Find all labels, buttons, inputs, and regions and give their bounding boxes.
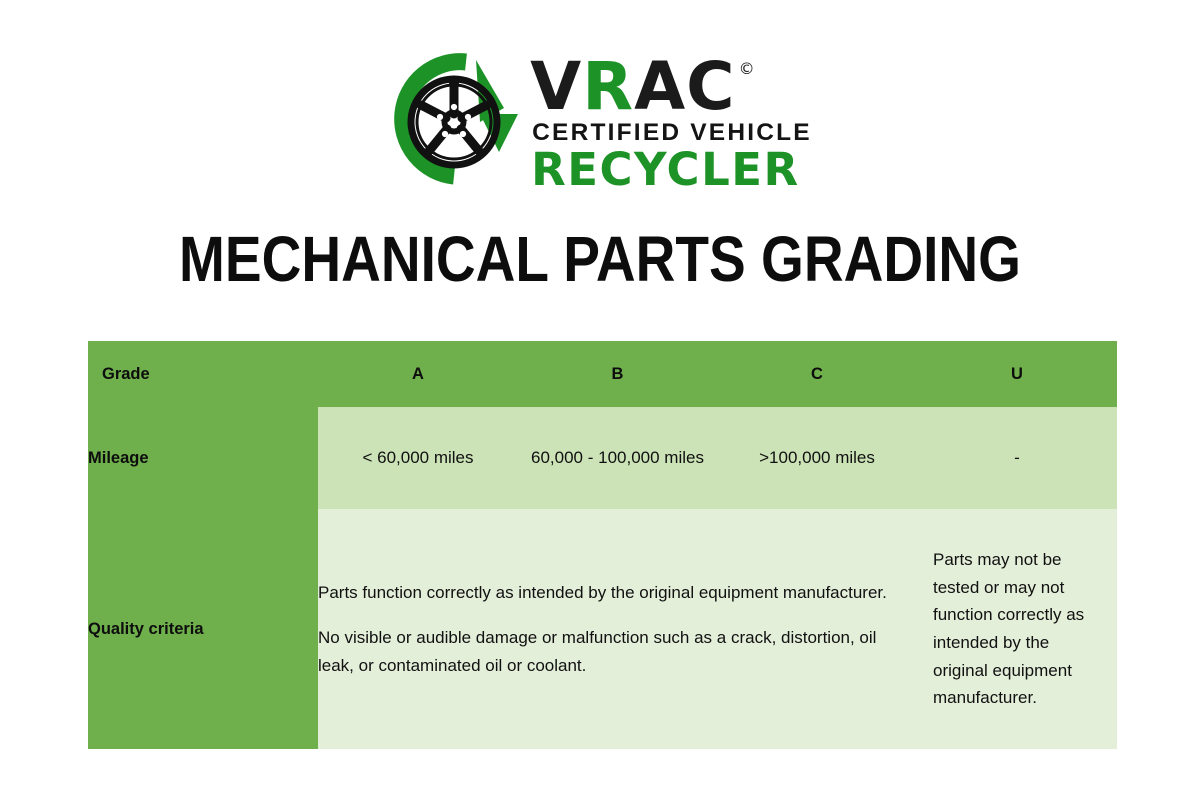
logo-vrac-text: VRAC© <box>530 55 812 118</box>
cell-mileage-b: 60,000 - 100,000 miles <box>518 407 717 509</box>
quality-u-paragraph: Parts may not be tested or may not funct… <box>933 546 1101 711</box>
logo-wordmark: VRAC© CERTIFIED VEHICLE RECYCLER <box>530 53 812 194</box>
logo-letter-v: V <box>530 55 582 118</box>
row-label-mileage: Mileage <box>88 407 318 509</box>
page-title: MECHANICAL PARTS GRADING <box>84 222 1116 296</box>
quality-abc-paragraph-2: No visible or audible damage or malfunct… <box>318 624 917 679</box>
table-row-quality-criteria: Quality criteria Parts function correctl… <box>88 509 1117 749</box>
brand-logo: VRAC© CERTIFIED VEHICLE RECYCLER <box>0 52 1200 202</box>
row-label-quality-criteria: Quality criteria <box>88 509 318 749</box>
logo-inner: VRAC© CERTIFIED VEHICLE RECYCLER <box>388 52 812 194</box>
logo-letter-r: R <box>582 55 634 118</box>
cell-mileage-a: < 60,000 miles <box>318 407 518 509</box>
copyright-icon: © <box>739 61 756 77</box>
column-header-a: A <box>318 341 518 407</box>
column-header-b: B <box>518 341 717 407</box>
cell-mileage-c: >100,000 miles <box>717 407 917 509</box>
quality-abc-paragraph-1: Parts function correctly as intended by … <box>318 579 917 607</box>
cell-mileage-u: - <box>917 407 1117 509</box>
table-header-row: Grade A B C U <box>88 341 1117 407</box>
column-header-u: U <box>917 341 1117 407</box>
wheel-recycle-arrow-icon <box>388 52 524 194</box>
logo-tagline-recycler: RECYCLER <box>531 146 812 193</box>
mechanical-parts-grading-table: Grade A B C U Mileage < 60,000 miles 60,… <box>88 341 1117 749</box>
column-header-grade: Grade <box>88 341 318 407</box>
logo-letters-ac: AC <box>634 55 736 118</box>
column-header-c: C <box>717 341 917 407</box>
table-row-mileage: Mileage < 60,000 miles 60,000 - 100,000 … <box>88 407 1117 509</box>
cell-quality-u: Parts may not be tested or may not funct… <box>917 509 1117 749</box>
cell-quality-abc: Parts function correctly as intended by … <box>318 509 917 749</box>
